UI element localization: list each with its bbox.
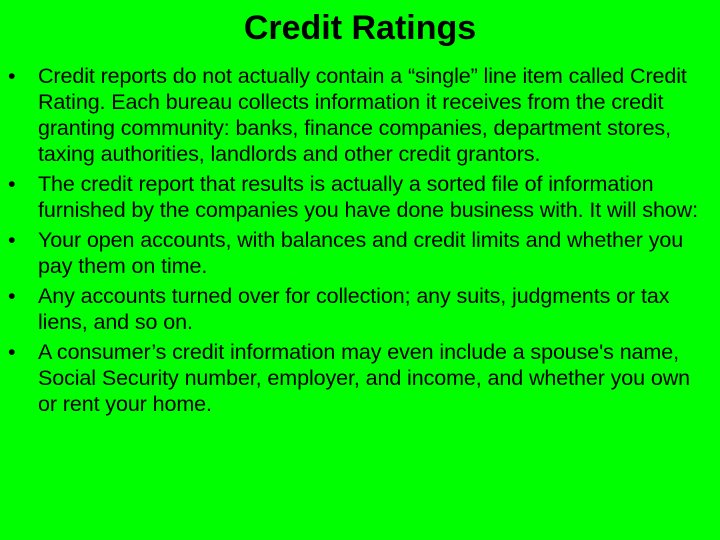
- bullet-icon: •: [8, 171, 24, 197]
- page-title: Credit Ratings: [0, 8, 720, 48]
- list-item-text: Credit reports do not actually contain a…: [38, 63, 712, 167]
- list-item-text: A consumer’s credit information may even…: [38, 339, 712, 417]
- list-item-text: The credit report that results is actual…: [38, 171, 712, 223]
- list-item-text: Any accounts turned over for collection;…: [38, 283, 712, 335]
- list-item: • Any accounts turned over for collectio…: [6, 283, 712, 335]
- bullet-icon: •: [8, 283, 24, 309]
- list-item: • Your open accounts, with balances and …: [6, 227, 712, 279]
- list-item-text: Your open accounts, with balances and cr…: [38, 227, 712, 279]
- presentation-slide: Credit Ratings • Credit reports do not a…: [0, 0, 720, 540]
- list-item: • Credit reports do not actually contain…: [6, 63, 712, 167]
- bullet-icon: •: [8, 227, 24, 253]
- list-item: • The credit report that results is actu…: [6, 171, 712, 223]
- bullet-icon: •: [8, 63, 24, 89]
- list-item: • A consumer’s credit information may ev…: [6, 339, 712, 417]
- bullet-icon: •: [8, 339, 24, 365]
- bullet-list: • Credit reports do not actually contain…: [6, 63, 712, 417]
